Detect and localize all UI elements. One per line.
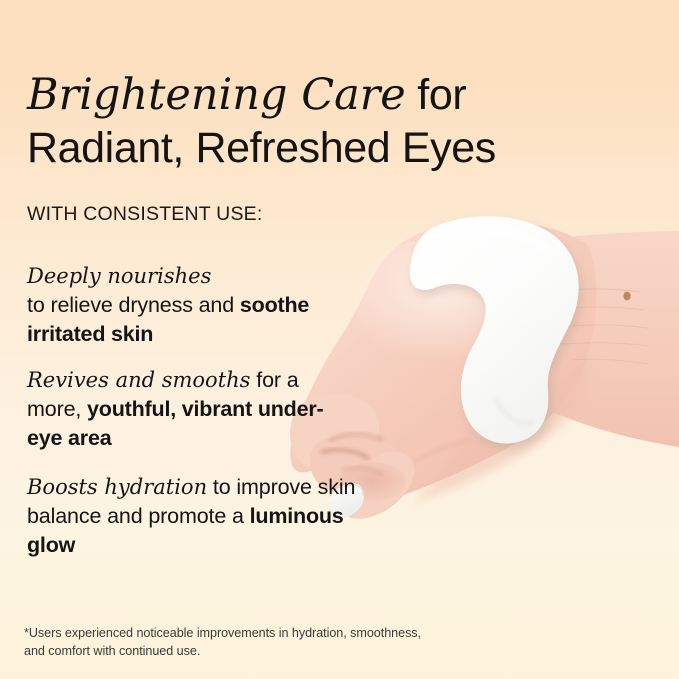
benefit-item-2: Revives and smooths for a more, youthful… (27, 366, 357, 452)
benefit-2-italic: Revives and smooths (27, 368, 250, 392)
benefit-item-1: Deeply nourishesto relieve dryness and s… (27, 262, 357, 348)
benefit-item-3: Boosts hydration to improve skin balance… (27, 473, 357, 559)
product-benefit-graphic: Brightening Care for Radiant, Refreshed … (0, 0, 679, 679)
copy-layer: Brightening Care for Radiant, Refreshed … (0, 0, 679, 679)
kicker-label: WITH CONSISTENT USE: (27, 203, 263, 226)
headline-emphasis: Brightening Care (27, 70, 406, 120)
benefit-3-italic: Boosts hydration (27, 475, 207, 499)
page-title: Brightening Care for Radiant, Refreshed … (27, 69, 627, 176)
disclaimer-text: *Users experienced noticeable improvemen… (24, 624, 444, 661)
benefit-1-italic: Deeply nourishes (27, 264, 211, 288)
benefit-1-regular: to relieve dryness and (27, 293, 240, 317)
